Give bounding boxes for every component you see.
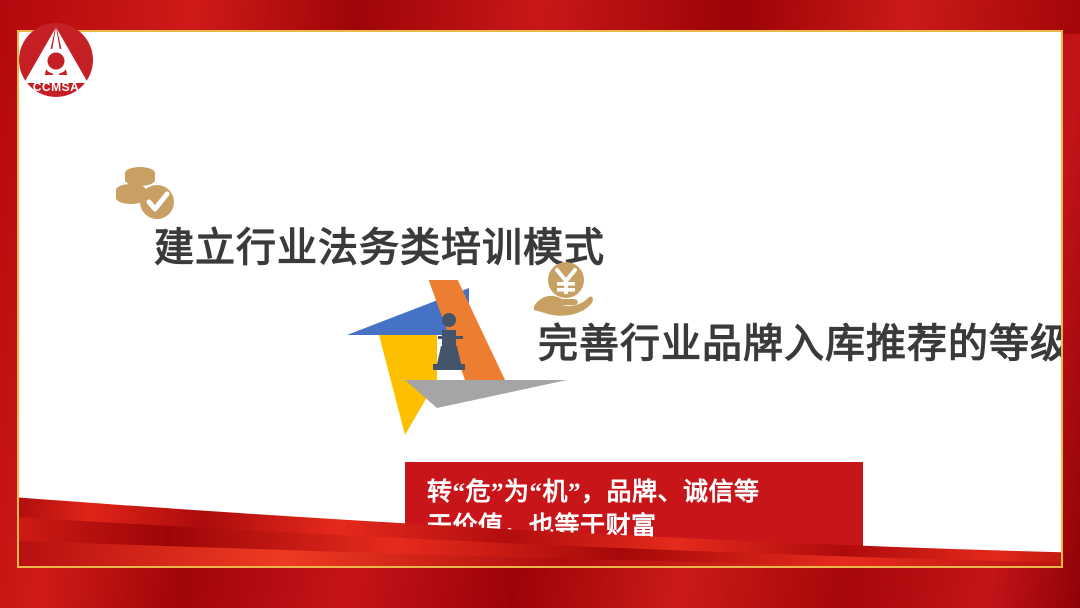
red-background-top-band bbox=[0, 0, 1080, 34]
illustration-gray-wing bbox=[405, 380, 567, 408]
content-panel: 建立行业法务类培训模式 bbox=[19, 32, 1061, 566]
page-title-secondary: 完善行业品牌入库推荐的等级 bbox=[538, 324, 1061, 364]
slide-root: 建立行业法务类培训模式 bbox=[0, 0, 1080, 608]
red-silk-ribbon bbox=[19, 482, 1061, 566]
coins-check-icon bbox=[112, 164, 178, 222]
ccmsa-logo-text: CCMSA bbox=[33, 80, 80, 94]
ccmsa-logo: CCMSA bbox=[17, 21, 95, 99]
